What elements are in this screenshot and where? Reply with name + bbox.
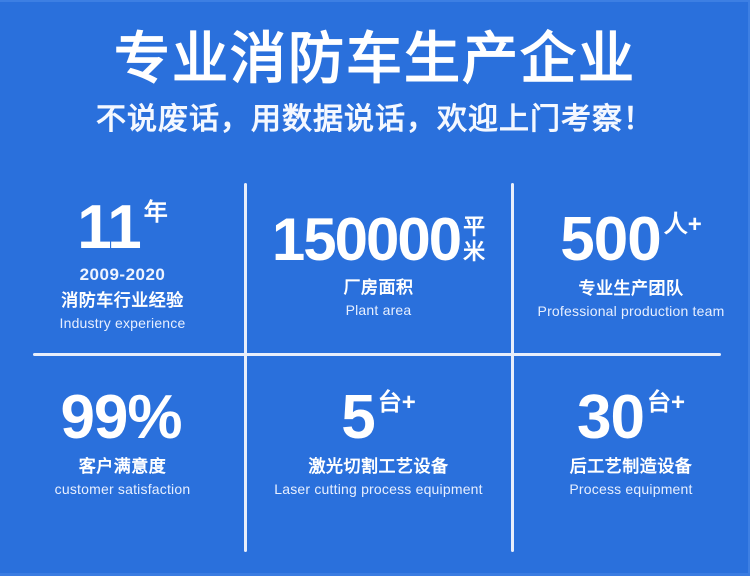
- stat-cell-industry-experience: 11 年 2009-2020 消防车行业经验 Industry experien…: [0, 178, 245, 355]
- stat-label-cn: 后工艺制造设备: [570, 458, 693, 477]
- stat-number-row: 5 台+: [341, 388, 416, 449]
- page-title: 专业消防车生产企业: [0, 26, 750, 92]
- stat-number-row: 500 人+: [560, 210, 701, 271]
- stat-cell-production-team: 500 人+ 专业生产团队 Professional production te…: [512, 178, 750, 355]
- grid-divider-horizontal: [33, 353, 721, 356]
- stat-label-cn: 专业生产团队: [579, 280, 684, 299]
- stat-number-row: 30 台+: [577, 388, 685, 449]
- stat-number: 11: [77, 198, 141, 259]
- stats-grid: 11 年 2009-2020 消防车行业经验 Industry experien…: [0, 178, 750, 558]
- stat-unit-line-2: 米: [463, 240, 485, 265]
- stat-label-en: Professional production team: [538, 304, 725, 319]
- stat-unit-line-1: 平: [463, 215, 485, 240]
- stat-number: 5: [341, 388, 374, 449]
- stat-label-cn: 激光切割工艺设备: [309, 458, 449, 477]
- stat-unit: 年: [144, 200, 168, 225]
- stat-label-cn: 客户满意度: [79, 458, 167, 477]
- stat-label-en: Process equipment: [569, 482, 692, 497]
- page-subtitle: 不说废话，用数据说话，欢迎上门考察！: [0, 100, 750, 140]
- stat-number: 99%: [60, 388, 181, 449]
- stat-cell-laser-cutting-equipment: 5 台+ 激光切割工艺设备 Laser cutting process equi…: [245, 355, 512, 558]
- stat-label-en: customer satisfaction: [55, 482, 191, 497]
- stat-number: 150000: [272, 211, 460, 270]
- stat-label-en: Industry experience: [60, 316, 186, 331]
- stat-unit: 人+: [664, 212, 702, 237]
- stat-number: 500: [560, 210, 660, 271]
- stat-label-en: Laser cutting process equipment: [274, 482, 483, 497]
- stat-cell-process-equipment: 30 台+ 后工艺制造设备 Process equipment: [512, 355, 750, 558]
- stat-unit: 台+: [378, 390, 416, 415]
- stat-number-row: 150000 平 米: [272, 211, 485, 270]
- grid-divider-vertical-right: [511, 183, 514, 552]
- stat-number: 30: [577, 388, 644, 449]
- stat-sub-number: 2009-2020: [80, 266, 166, 283]
- stat-label-cn: 厂房面积: [344, 279, 414, 298]
- banner-heading: 专业消防车生产企业 不说废话，用数据说话，欢迎上门考察！: [0, 26, 750, 140]
- stat-number-row: 11 年: [77, 198, 168, 259]
- stat-unit: 平 米: [463, 215, 485, 264]
- stat-unit: 台+: [647, 390, 685, 415]
- stat-label-en: Plant area: [346, 303, 412, 318]
- grid-divider-vertical-left: [244, 183, 247, 552]
- stat-number-row: 99%: [60, 388, 184, 449]
- banner-top-edge: [0, 0, 750, 2]
- stat-cell-customer-satisfaction: 99% 客户满意度 customer satisfaction: [0, 355, 245, 558]
- stat-label-cn: 消防车行业经验: [61, 292, 184, 311]
- stat-cell-plant-area: 150000 平 米 厂房面积 Plant area: [245, 178, 512, 355]
- promo-banner: 专业消防车生产企业 不说废话，用数据说话，欢迎上门考察！ 11 年 2009-2…: [0, 0, 750, 576]
